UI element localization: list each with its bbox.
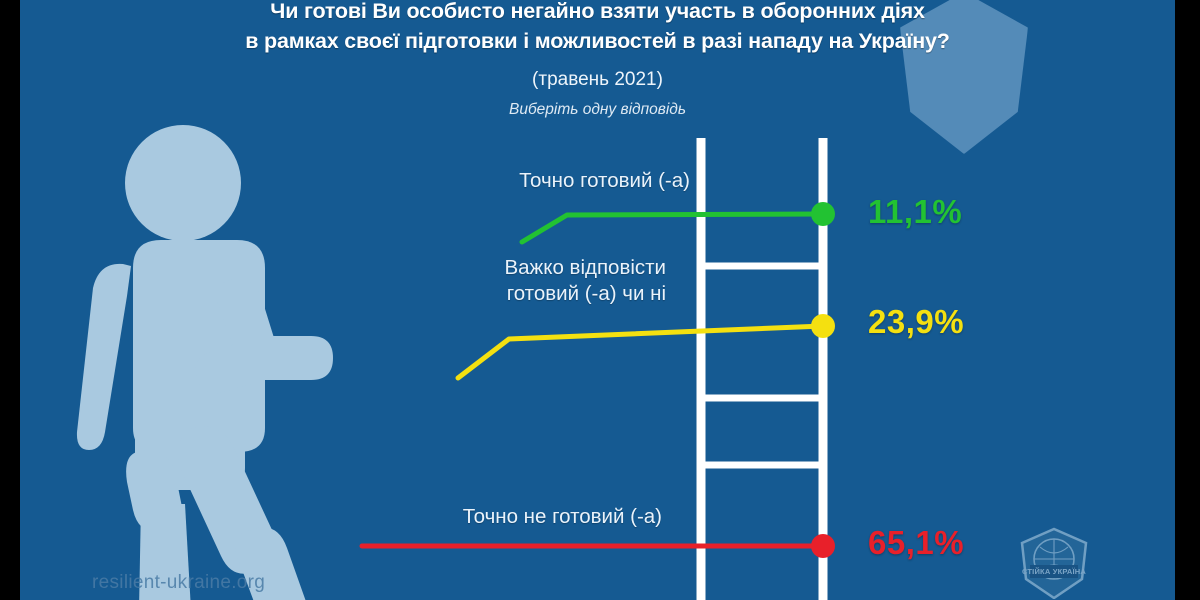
answer-label-2-line-2: готовий (-а) чи ні [200, 281, 666, 307]
header: Чи готові Ви особисто негайно взяти учас… [20, 0, 1175, 121]
data-point-1 [811, 202, 835, 226]
connector-line-1 [522, 214, 823, 242]
infographic-canvas: Чи готові Ви особисто негайно взяти учас… [20, 0, 1175, 600]
percentage-value-1: 11,1% [868, 193, 962, 231]
survey-date-subtitle: (травень 2021) [20, 63, 1175, 97]
letterbox-bar-left [0, 0, 20, 600]
data-point-3 [811, 534, 835, 558]
answer-label-2: Важко відповісти готовий (-а) чи ні [200, 255, 666, 307]
percentage-value-2: 23,9% [868, 303, 964, 341]
infographic-screenshot: Чи готові Ви особисто негайно взяти учас… [0, 0, 1200, 600]
answer-label-1-line-1: Точно готовий (-а) [200, 168, 690, 194]
answer-label-1: Точно готовий (-а) [200, 168, 690, 194]
percentage-value-3: 65,1% [868, 524, 964, 562]
connector-line-2 [458, 326, 823, 378]
answer-label-2-line-1: Важко відповісти [200, 255, 666, 281]
badge-label: СТІЙКА УКРАЇНА [1020, 567, 1088, 576]
letterbox-bar-right [1175, 0, 1200, 600]
page-title-line-2: в рамках своєї підготовки і можливостей … [20, 26, 1175, 56]
shield-badge-icon: СТІЙКА УКРАЇНА [1020, 527, 1088, 599]
page-title-line-1: Чи готові Ви особисто негайно взяти учас… [20, 0, 1175, 26]
source-watermark: resilient-ukraine.org [92, 572, 265, 594]
instruction-hint: Виберіть одну відповідь [20, 99, 1175, 121]
data-point-2 [811, 314, 835, 338]
answer-label-3-line-1: Точно не готовий (-а) [140, 504, 662, 530]
answer-label-3: Точно не готовий (-а) [140, 504, 662, 530]
